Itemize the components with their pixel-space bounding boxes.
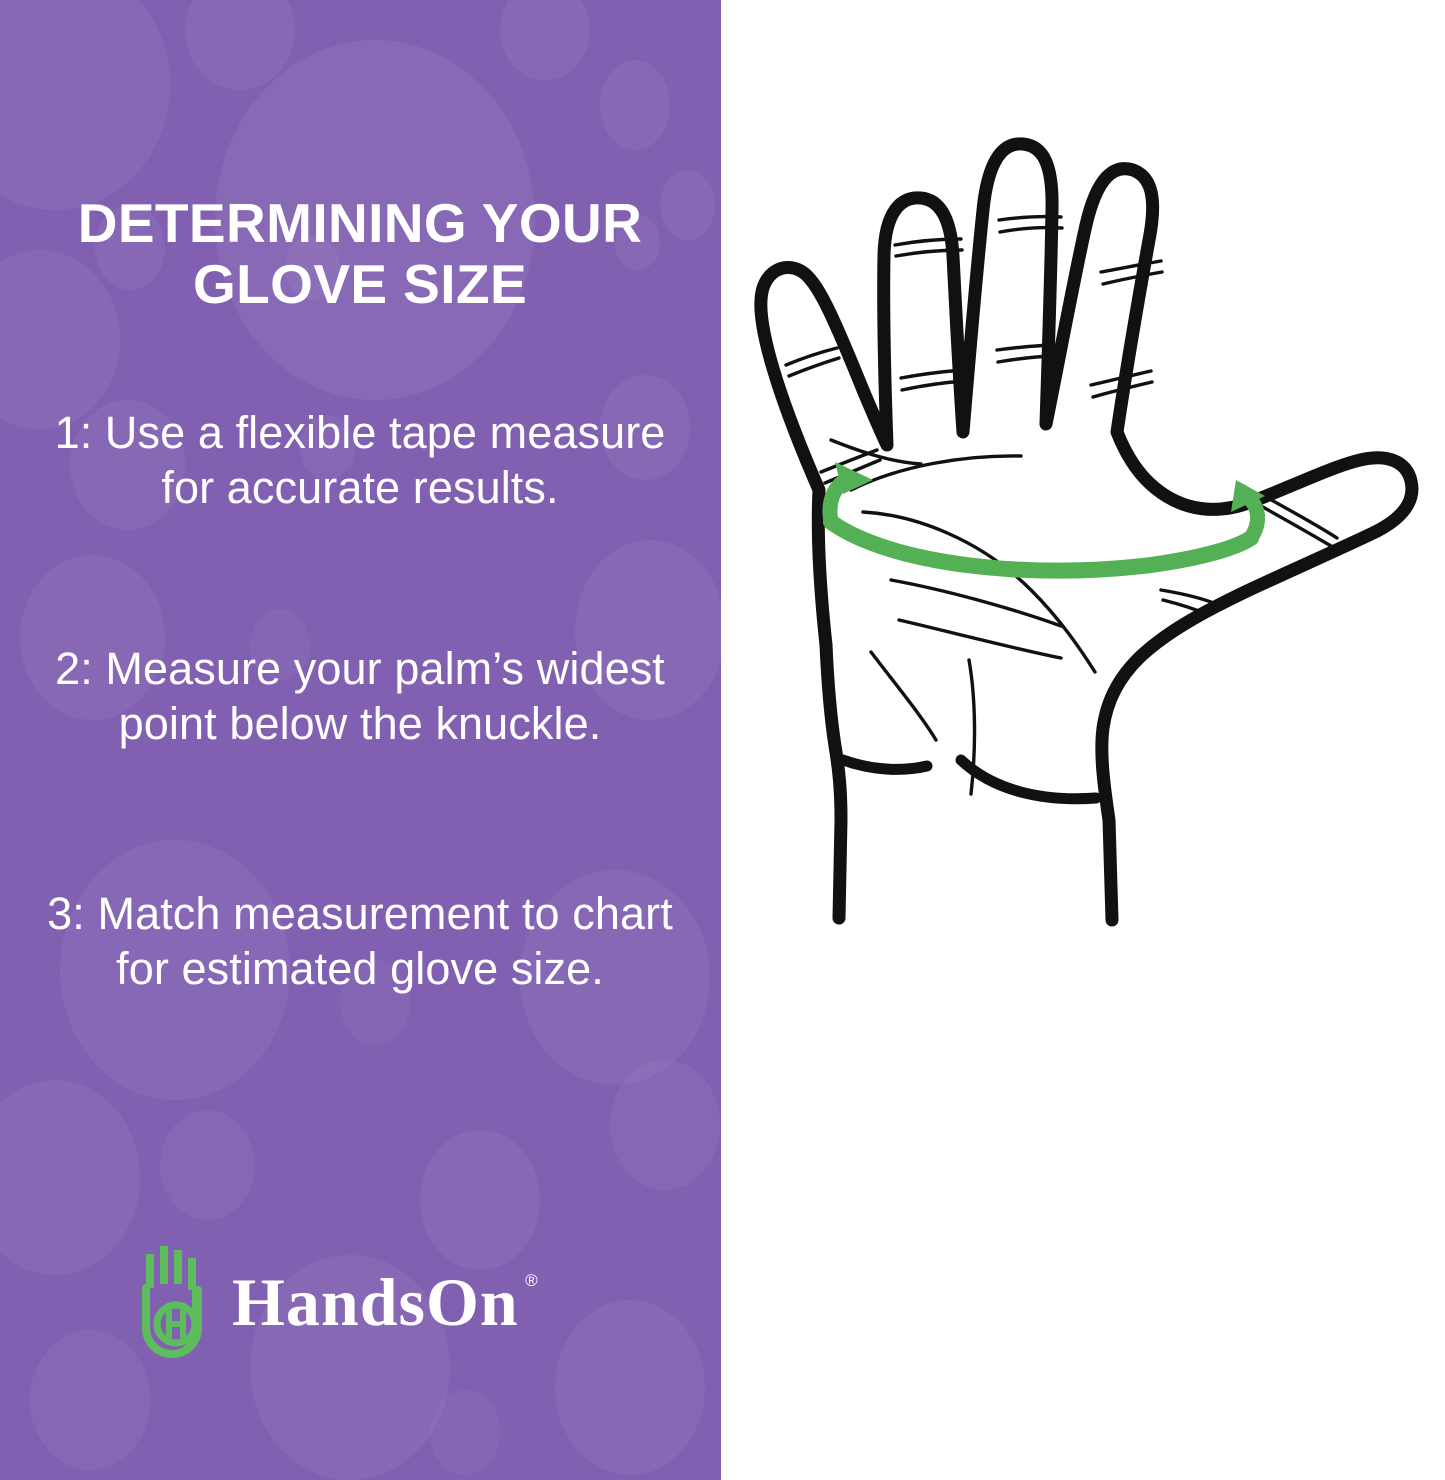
- brand-name-text: HandsOn: [232, 1264, 519, 1340]
- brand-logo: HandsOn ®: [138, 1242, 519, 1362]
- illustration-and-chart-panel: SIZE INCHES CENTIMETERS Junior Under 6” …: [721, 0, 1445, 1480]
- instructions-panel: DETERMINING YOUR GLOVE SIZE 1: Use a fle…: [0, 0, 721, 1480]
- instruction-step-2: 2: Measure your palm’s widest point belo…: [40, 641, 680, 752]
- hand-measurement-illustration: [731, 60, 1445, 990]
- hand-logo-icon: [138, 1242, 210, 1362]
- brand-wordmark: HandsOn ®: [232, 1268, 519, 1336]
- registered-trademark-symbol: ®: [525, 1272, 539, 1289]
- instruction-step-1: 1: Use a flexible tape measure for accur…: [40, 405, 680, 516]
- glove-size-guide-page: DETERMINING YOUR GLOVE SIZE 1: Use a fle…: [0, 0, 1445, 1480]
- instruction-step-3: 3: Match measurement to chart for estima…: [40, 886, 680, 997]
- page-title: DETERMINING YOUR GLOVE SIZE: [40, 193, 680, 315]
